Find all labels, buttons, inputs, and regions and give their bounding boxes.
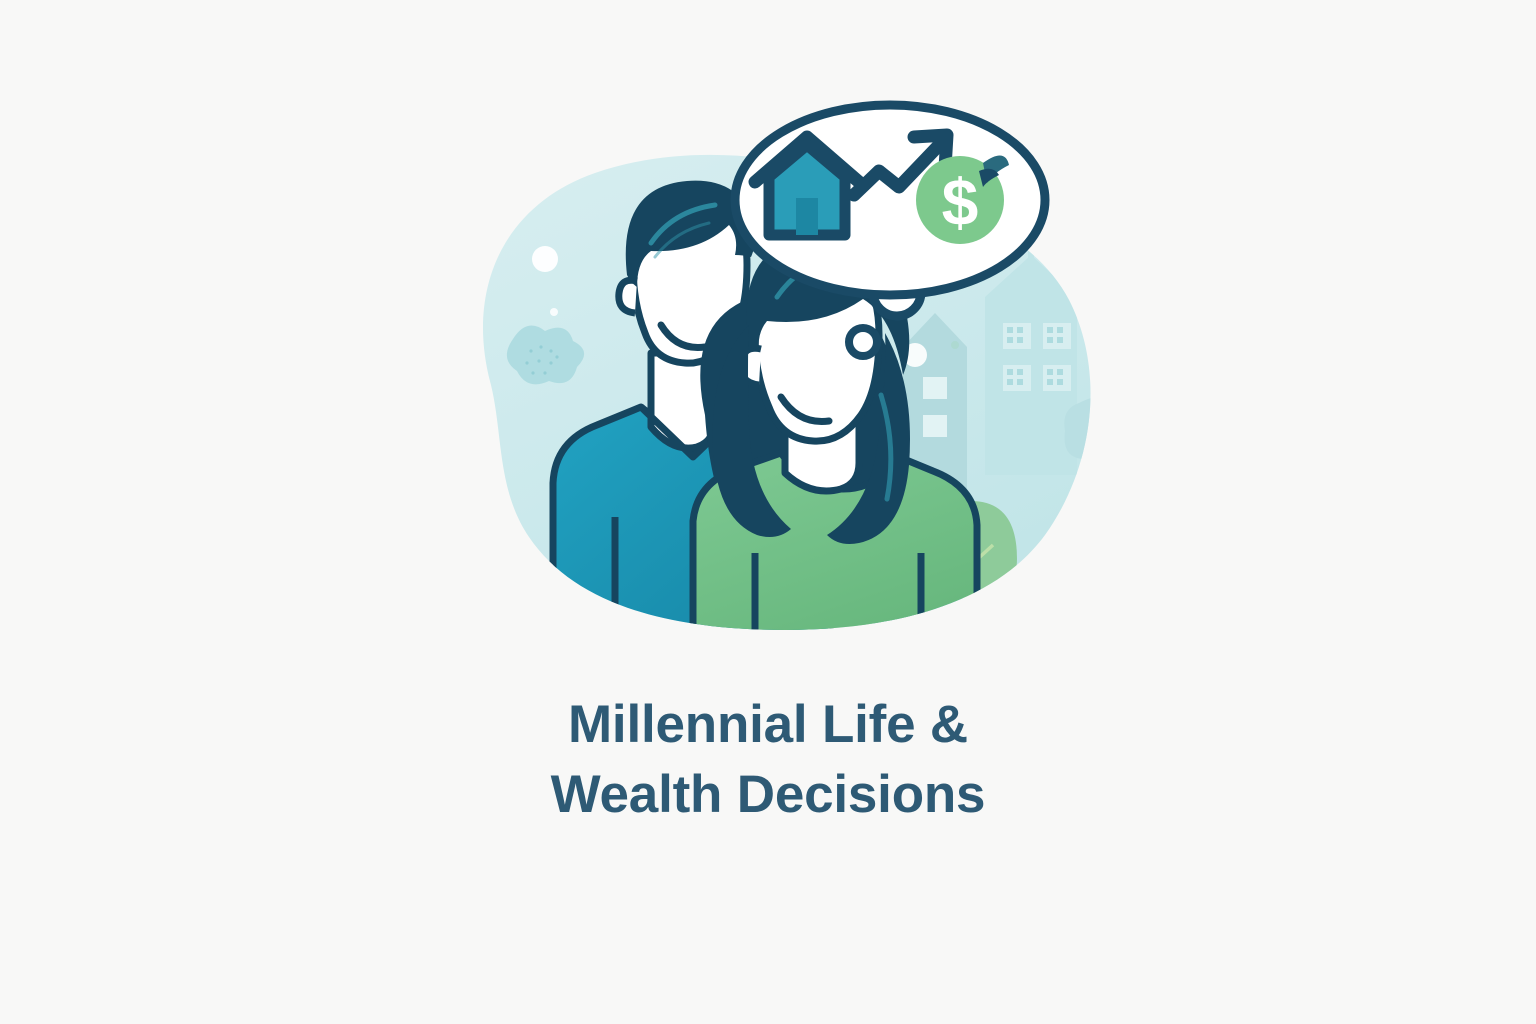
- bubble-dot-large: [532, 246, 558, 272]
- bubble-dot-medium: [506, 198, 524, 216]
- bubble-dot-small: [550, 308, 558, 316]
- page-title-line-1: Millennial Life &: [0, 690, 1536, 760]
- tree-teal: [988, 571, 1087, 645]
- bubble-dot-accent2: [951, 341, 959, 349]
- dollar-sign: $: [942, 165, 979, 239]
- sparkle-diamond: [507, 115, 549, 159]
- poster-canvas: $ Millennial Life & Wealth Decisions: [0, 0, 1536, 1024]
- house-door: [796, 198, 818, 235]
- bubble-dot-tiny: [470, 353, 476, 359]
- page-title: Millennial Life & Wealth Decisions: [0, 690, 1536, 830]
- thought-bubble-tail-circle-small: [849, 328, 877, 356]
- illustration-container: $: [455, 85, 1115, 645]
- male-ear: [619, 280, 637, 313]
- millennial-couple-financial-planning-illustration: $: [455, 85, 1115, 645]
- page-title-line-2: Wealth Decisions: [0, 760, 1536, 830]
